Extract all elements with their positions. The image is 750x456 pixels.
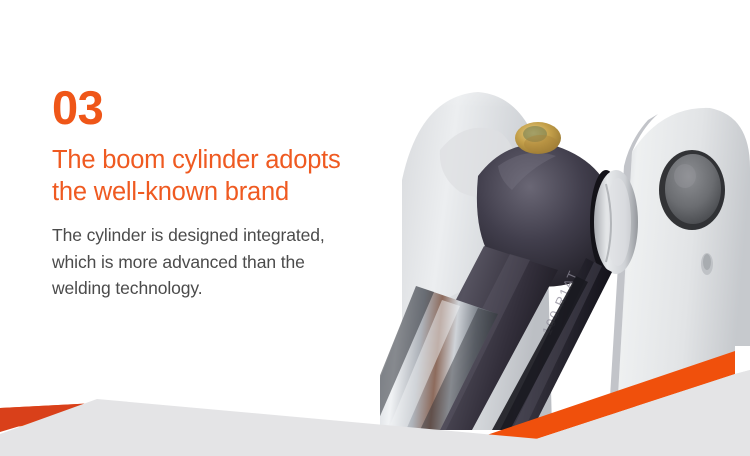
body-copy: The cylinder is designed integrated, whi… bbox=[52, 222, 402, 302]
product-photo-illustration: 100 R1AT bbox=[380, 0, 750, 430]
headline-line-2: the well-known brand bbox=[52, 177, 402, 209]
orange-chevron-band bbox=[0, 351, 735, 456]
right-edge-sliver bbox=[735, 346, 750, 374]
brass-bolt-head bbox=[515, 122, 561, 154]
body-copy-line-2: which is more advanced than the bbox=[52, 249, 402, 276]
bracket-grease-hole bbox=[701, 253, 713, 275]
hydraulic-hose bbox=[500, 258, 612, 430]
bracket-pin-bore bbox=[659, 150, 725, 230]
gray-right-wedge bbox=[478, 370, 750, 456]
headline-line-1: The boom cylinder adopts bbox=[52, 145, 402, 177]
hose-marking-text: 100 R1AT bbox=[539, 268, 581, 338]
feature-banner: 100 R1AT 03 The boom cylinder adopts the… bbox=[0, 0, 750, 456]
headline: The boom cylinder adopts the well-known … bbox=[52, 145, 402, 208]
gray-bottom-wedge bbox=[0, 399, 750, 456]
right-bracket-plate bbox=[616, 108, 750, 430]
cylinder-gland bbox=[594, 170, 638, 274]
chrome-piston-rod bbox=[380, 286, 498, 430]
hydraulic-hose-secondary bbox=[492, 276, 588, 430]
bottom-decoration-shapes bbox=[0, 346, 750, 456]
cylinder-gland-shadow bbox=[590, 170, 622, 274]
left-bracket-ear bbox=[402, 92, 552, 430]
body-copy-line-3: welding technology. bbox=[52, 275, 402, 302]
bottom-decoration bbox=[0, 346, 750, 456]
cylinder-eye-boss bbox=[477, 144, 616, 287]
bracket-pin-face bbox=[665, 154, 721, 224]
body-copy-line-1: The cylinder is designed integrated, bbox=[52, 222, 402, 249]
orange-left-wedge bbox=[0, 403, 97, 432]
photo-top-fade bbox=[380, 0, 750, 108]
step-number: 03 bbox=[52, 84, 402, 131]
cylinder-barrel bbox=[388, 246, 558, 430]
text-block: 03 The boom cylinder adopts the well-kno… bbox=[52, 84, 402, 302]
product-photo: 100 R1AT bbox=[380, 0, 750, 430]
